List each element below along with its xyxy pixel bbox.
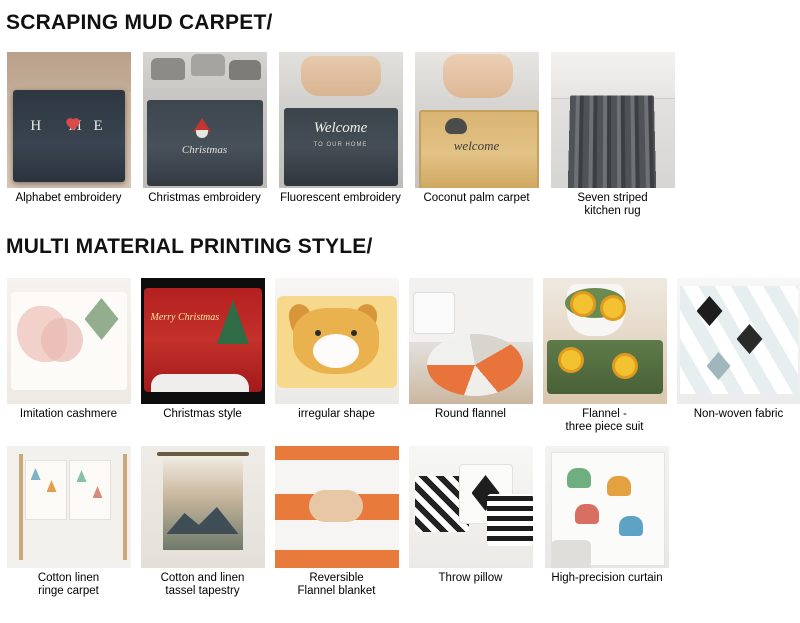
product-caption: Christmas embroidery — [142, 192, 267, 205]
product-caption: Imitation cashmere — [6, 408, 131, 421]
scraping-mud-carpet-gallery: H M E Alphabet embroidery Christmas Chri… — [6, 52, 675, 217]
product-caption: Coconut palm carpet — [414, 192, 539, 205]
product-caption: Throw pillow — [408, 572, 533, 585]
product-caption: Alphabet embroidery — [6, 192, 131, 205]
product-card-non-woven-fabric[interactable]: Non-woven fabric — [676, 278, 800, 433]
multi-material-gallery-row-2: Cotton linen ringe carpet Cotton and lin… — [6, 446, 672, 597]
product-caption: Round flannel — [408, 408, 533, 421]
product-image-round-flannel — [409, 278, 533, 404]
product-caption: Fluorescent embroidery — [278, 192, 403, 205]
product-image-imitation-cashmere — [7, 278, 131, 404]
product-card-fluorescent-embroidery[interactable]: Welcome TO OUR HOME Fluorescent embroide… — [278, 52, 403, 217]
product-image-non-woven-fabric — [677, 278, 800, 404]
product-image-cotton-linen-tassel-tapestry — [141, 446, 265, 568]
product-caption: Cotton and linen tassel tapestry — [140, 572, 265, 597]
product-caption: Flannel - three piece suit — [542, 408, 667, 433]
product-card-christmas-style[interactable]: Merry Christmas Christmas style — [140, 278, 265, 433]
product-card-irregular-shape[interactable]: irregular shape — [274, 278, 399, 433]
product-card-high-precision-curtain[interactable]: High-precision curtain — [542, 446, 672, 597]
product-card-coconut-palm-carpet[interactable]: welcome Coconut palm carpet — [414, 52, 539, 217]
product-caption: Non-woven fabric — [676, 408, 800, 421]
product-image-flannel-three-piece-suit — [543, 278, 667, 404]
product-card-christmas-embroidery[interactable]: Christmas Christmas embroidery — [142, 52, 267, 217]
product-card-cotton-linen-tassel-tapestry[interactable]: Cotton and linen tassel tapestry — [140, 446, 265, 597]
product-card-cotton-linen-fringe-carpet[interactable]: Cotton linen ringe carpet — [6, 446, 131, 597]
product-caption: Christmas style — [140, 408, 265, 421]
product-card-throw-pillow[interactable]: Throw pillow — [408, 446, 533, 597]
section-title-multi-material-printing-style: MULTI MATERIAL PRINTING STYLE/ — [0, 236, 373, 257]
product-image-irregular-shape — [275, 278, 399, 404]
product-category-poster: SCRAPING MUD CARPET/ H M E Alphabet embr… — [0, 0, 800, 623]
product-image-high-precision-curtain — [545, 446, 669, 568]
product-image-seven-striped-kitchen-rug — [551, 52, 675, 188]
product-image-christmas-embroidery: Christmas — [143, 52, 267, 188]
product-caption: High-precision curtain — [542, 572, 672, 585]
product-card-alphabet-embroidery[interactable]: H M E Alphabet embroidery — [6, 52, 131, 217]
product-image-throw-pillow — [409, 446, 533, 568]
product-card-flannel-three-piece-suit[interactable]: Flannel - three piece suit — [542, 278, 667, 433]
product-card-reversible-flannel-blanket[interactable]: Reversible Flannel blanket — [274, 446, 399, 597]
product-image-reversible-flannel-blanket — [275, 446, 399, 568]
product-image-cotton-linen-fringe-carpet — [7, 446, 131, 568]
product-caption: Seven striped kitchen rug — [550, 192, 675, 217]
product-card-round-flannel[interactable]: Round flannel — [408, 278, 533, 433]
multi-material-gallery-row-1: Imitation cashmere Merry Christmas Chris… — [6, 278, 800, 433]
product-card-seven-striped-kitchen-rug[interactable]: Seven striped kitchen rug — [550, 52, 675, 217]
product-image-fluorescent-embroidery: Welcome TO OUR HOME — [279, 52, 403, 188]
product-image-alphabet-embroidery: H M E — [7, 52, 131, 188]
product-caption: Cotton linen ringe carpet — [6, 572, 131, 597]
product-caption: Reversible Flannel blanket — [274, 572, 399, 597]
product-image-christmas-style: Merry Christmas — [141, 278, 265, 404]
product-caption: irregular shape — [274, 408, 399, 421]
product-card-imitation-cashmere[interactable]: Imitation cashmere — [6, 278, 131, 433]
section-title-scraping-mud-carpet: SCRAPING MUD CARPET/ — [0, 12, 273, 33]
product-image-coconut-palm-carpet: welcome — [415, 52, 539, 188]
